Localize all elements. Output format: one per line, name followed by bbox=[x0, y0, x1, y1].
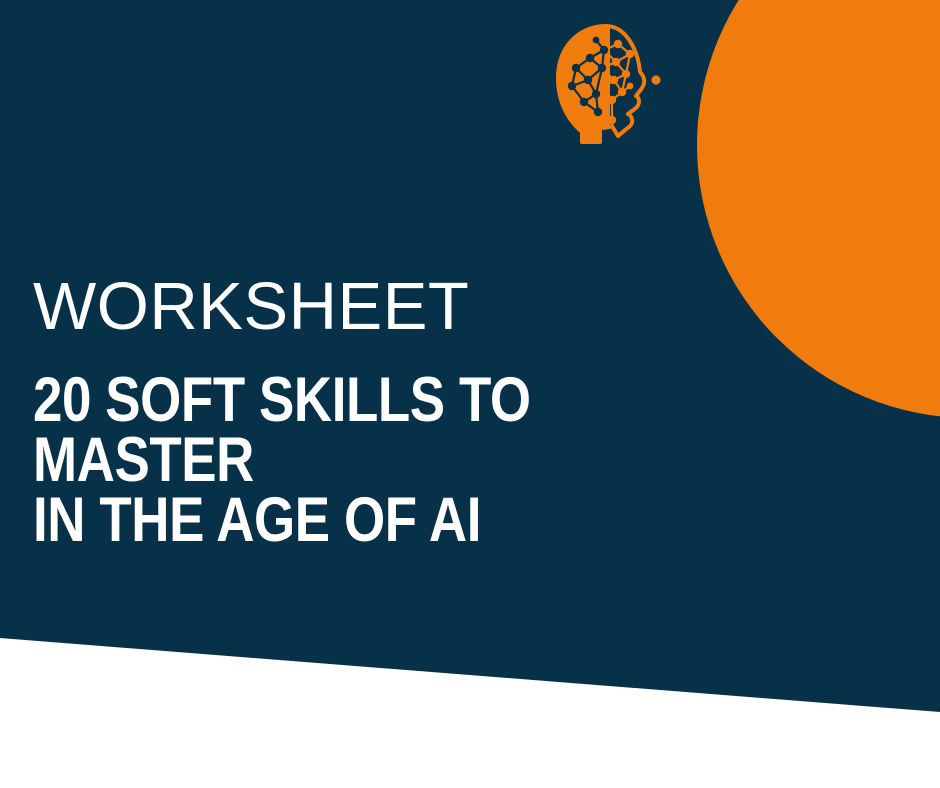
cover-text-block: WORKSHEET 20 SOFT SKILLS TO MASTER IN TH… bbox=[33, 268, 893, 550]
worksheet-cover-page: WORKSHEET 20 SOFT SKILLS TO MASTER IN TH… bbox=[0, 0, 940, 788]
page-kicker: WORKSHEET bbox=[33, 268, 893, 346]
page-title: 20 SOFT SKILLS TO MASTER IN THE AGE OF A… bbox=[33, 370, 755, 550]
ai-head-logo bbox=[556, 24, 668, 146]
